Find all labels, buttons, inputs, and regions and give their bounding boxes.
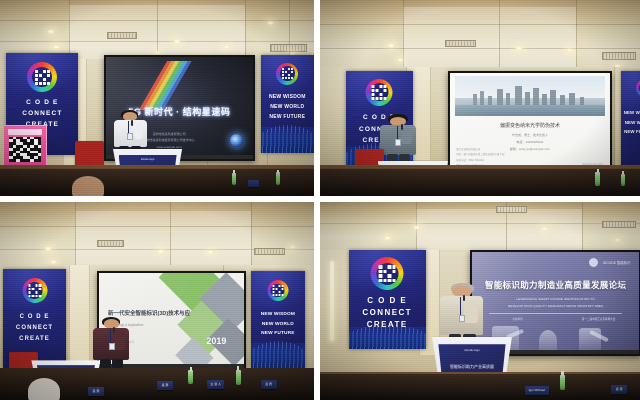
placard-label: 主 讲 人 [209,382,223,386]
audience-head [63,176,113,196]
stage-chair [75,141,103,165]
collage-panel-top-right: C O D E CONNECT CREATE NEW WISDOM NEW WO… [320,0,640,196]
slide-corner-2: 地址：厦门市集美区第二路某某创新大厦 8 层 [456,152,504,156]
placard-label: 嘉 宾 [612,387,625,391]
banner-line-3: NEW FUTURE [251,331,304,338]
placard-label: 嘉 宾 [262,382,275,386]
placard-label: Igor Michael [527,388,547,392]
slide-header-mark: IDCODE 智能标识 [589,258,631,267]
name-placard: 嘉 宾 [157,381,173,390]
slide-title: 偏振变色纳米光学防伪技术 [466,122,594,129]
slide-title-en-line1: LEVERAGING SMART IDCODE IDENTIFICATION T… [486,297,626,301]
idcode-ring-qr-logo [371,257,404,290]
lectern-logo: idcode-logo [464,348,480,352]
foreground-table [320,169,640,196]
photo-collage: C O D E CONNECT CREATE NEW WISDOM NEW WO… [0,0,640,400]
collage-panel-bottom-left: C O D E CONNECT CREATE NEW WISDOM NEW WO… [0,202,314,400]
name-placard: 嘉 宾 [88,387,104,396]
banner-line-2: NEW WORLD [621,120,640,126]
lectern-text-1: 智能标识助力产业高质量 [442,364,501,370]
banner-line-2: NEW WORLD [261,104,314,111]
qr-code-icon [9,137,41,162]
rollup-banner-new-wisdom: NEW WISDOM NEW WORLD NEW FUTURE [251,271,304,368]
slide-contact-1: 叶志成、博士、技术负责人 [472,133,587,137]
slide-orb-graphic [230,134,243,147]
slide-corner-1: 厦门某某科技有限公司 [456,147,480,151]
banner-line-3: NEW FUTURE [261,114,314,121]
placard-label: 嘉 宾 [89,389,102,393]
emblem-icon [589,258,598,267]
rollup-banner-new-wisdom: NEW WISDOM NEW WORLD NEW FUTURE [261,55,314,153]
banner-line-2: CONNECT [6,109,78,118]
banner-line-1: C O D E [3,313,66,322]
rollup-banner-code-connect-create: C O D E CONNECT CREATE [349,250,426,349]
idcode-ring-qr-logo [267,280,288,301]
qr-code-poster-easel [3,125,47,166]
cityscape-photo [455,76,605,115]
ceiling [320,202,640,253]
banner-line-1: C O D E [6,98,78,107]
banner-line-2: NEW WORLD [251,322,304,329]
slide-corner-3: 联系电话：0592-7081233 [456,158,483,162]
banner-line-3: CREATE [3,335,66,344]
audience-head [22,378,66,400]
slide-title-cn: 智能标识助力制造业高质量发展论坛 [482,279,628,291]
slide-title-en-line2: DEVELOP HIGH-QUALITY MANUFACTURING INDUS… [486,304,626,308]
robot-arm-graphic [539,330,557,353]
banner-line-3: NEW FUTURE [621,129,640,135]
lectern-logo: idcode-logo [141,158,154,161]
rollup-banner-new-wisdom: NEW WISDOM NEW WORLD NEW FUTURE [621,71,640,169]
banner-line-1: NEW WISDOM [621,110,640,116]
qr-poster [3,125,47,166]
name-placard: 主 讲 人 [207,380,224,389]
projection-screen: 偏振变色纳米光学防伪技术 叶志成、博士、技术负责人 电话：13256385291… [448,71,612,173]
collage-panel-top-left: C O D E CONNECT CREATE NEW WISDOM NEW WO… [0,0,314,196]
name-placard: 嘉 宾 [261,380,277,389]
slide-contact-3: 邮箱：andy.ye@example.com [472,147,587,151]
idcode-ring-qr-logo [366,79,393,106]
banner-line-1: NEW WISDOM [251,312,304,319]
wall-light-tube [330,261,334,340]
foreground-table [0,169,314,196]
name-placard: Igor Michael [525,386,549,395]
ceiling [320,0,640,74]
header-mark-label: IDCODE 智能标识 [603,260,631,265]
foreground-table: Igor Michael 嘉 宾 [320,374,640,400]
collage-panel-bottom-right: C O D E CONNECT CREATE IDCODE 智能标识 智能标识助… [320,202,640,400]
idcode-ring-qr-logo [27,62,57,92]
slide-meta-right: 第一二届中国工业互联网大会 [496,317,616,321]
banner-line-1: NEW WISDOM [261,94,314,101]
ceiling [0,202,314,273]
idcode-ring-qr-logo [22,278,47,303]
banner-line-2: CONNECT [3,324,66,333]
idcode-ring-qr-logo [276,63,298,85]
placard-label: 嘉 宾 [158,383,171,387]
banner-line-1: C O D E [349,295,426,307]
slide-city-title: 偏振变色纳米光学防伪技术 叶志成、博士、技术负责人 电话：13256385291… [450,73,610,171]
slide-contact-2: 电话：13256385291 [472,140,587,144]
slide-year: 2019 [206,336,226,346]
name-placard: 嘉 宾 [611,385,627,394]
banner-line-2: CONNECT [349,307,426,319]
